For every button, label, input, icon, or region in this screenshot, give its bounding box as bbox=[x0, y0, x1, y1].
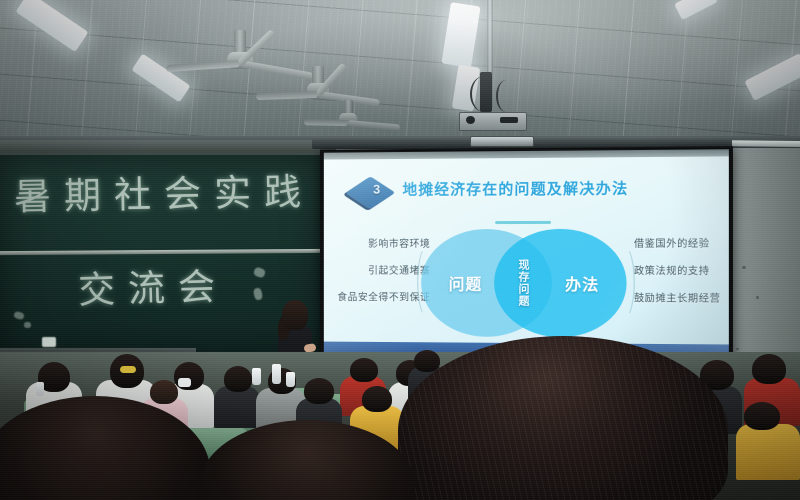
audience-member-head bbox=[304, 378, 334, 404]
list-item: 食品安全得不到保证 bbox=[337, 288, 430, 303]
list-item: 鼓励摊主长期经营 bbox=[634, 289, 721, 304]
audience-member-head bbox=[350, 358, 378, 382]
audience-member-torso bbox=[736, 424, 800, 480]
badge-number: 3 bbox=[353, 174, 394, 204]
ceiling bbox=[0, 0, 800, 152]
audience-member-head bbox=[752, 354, 786, 384]
ceiling-shading bbox=[0, 0, 800, 152]
slide-title: 地摊经济存在的问题及解决办法 bbox=[403, 177, 629, 199]
slide-problems-list: 影响市容环境 引起交通堵塞 食品安全得不到保证 bbox=[337, 235, 430, 303]
audience-member-head bbox=[150, 380, 178, 404]
venn-circle-solutions: 办法 bbox=[494, 229, 626, 338]
face-mask bbox=[178, 378, 191, 387]
blackboard-text-line-1: 暑期社会实践 bbox=[14, 161, 315, 220]
projection-screen: 3 地摊经济存在的问题及解决办法 影响市容环境 引起交通堵塞 食品安全得不到保证… bbox=[320, 146, 733, 362]
venn-right-label: 办法 bbox=[565, 271, 599, 295]
audience-member-head bbox=[224, 366, 252, 392]
chalk-eraser bbox=[42, 337, 56, 347]
blackboard-text-line-2: 交流会 bbox=[77, 256, 228, 314]
blackboard-frame bbox=[0, 140, 336, 152]
chalk-smudge bbox=[24, 322, 31, 328]
water-bottle bbox=[252, 368, 261, 385]
audience-member-head bbox=[362, 386, 392, 412]
water-bottle bbox=[286, 372, 295, 387]
slide-divider-line bbox=[495, 221, 551, 224]
lecture-hall-photo: 暑期社会实践 交流会 3 地摊经济存在的问题及解决办法 影响市容环境 引起交通堵… bbox=[0, 0, 800, 500]
venn-diagram: 问题 办法 现存问题 bbox=[421, 229, 626, 338]
list-item: 政策法规的支持 bbox=[634, 262, 710, 277]
projection-screen-housing bbox=[470, 136, 534, 147]
presentation-slide: 3 地摊经济存在的问题及解决办法 影响市容环境 引起交通堵塞 食品安全得不到保证… bbox=[324, 149, 729, 357]
audience-member-head bbox=[744, 402, 780, 430]
venn-left-label: 问题 bbox=[449, 271, 483, 295]
audience-member-torso bbox=[214, 386, 260, 428]
slide-solutions-list: 借鉴国外的经验 政策法规的支持 鼓励摊主长期经营 bbox=[634, 235, 721, 305]
presenter-hair bbox=[282, 300, 308, 330]
slide-header: 3 地摊经济存在的问题及解决办法 bbox=[353, 172, 629, 203]
water-bottle bbox=[36, 382, 44, 396]
water-bottle bbox=[272, 364, 281, 384]
slide-top-band bbox=[324, 149, 729, 159]
list-item: 借鉴国外的经验 bbox=[634, 235, 710, 250]
slide-number-badge-icon: 3 bbox=[353, 174, 394, 204]
hair-tie bbox=[120, 366, 136, 373]
